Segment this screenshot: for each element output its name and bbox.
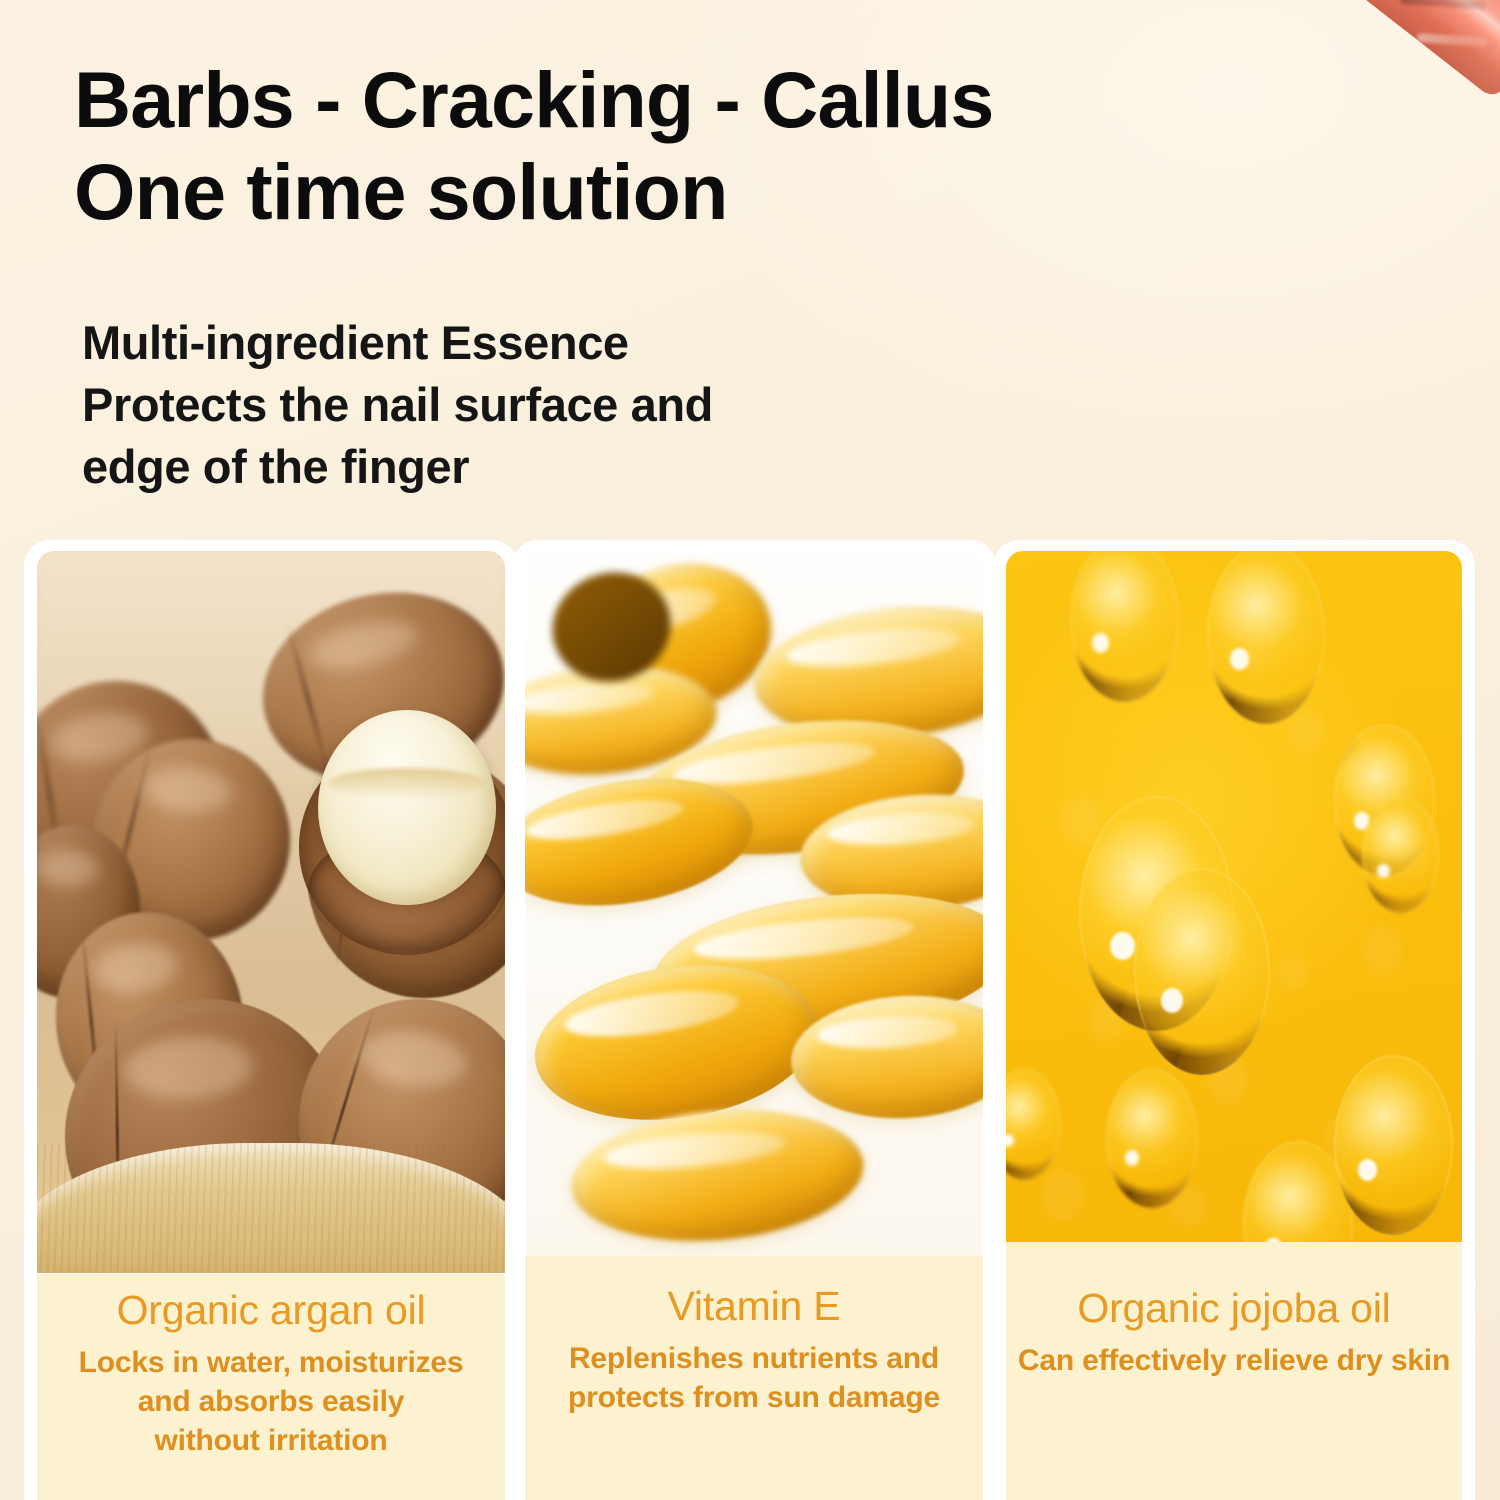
bubble-rim [1362, 796, 1440, 914]
bubble-specular [1230, 648, 1249, 670]
card-body-line-2: and absorbs easily [45, 1382, 497, 1421]
bubble-rim [1134, 868, 1271, 1075]
capsule-highlight [826, 810, 975, 850]
capsule-highlight [692, 909, 916, 967]
capsule-highlight [816, 1013, 959, 1052]
kernel-notch [328, 768, 484, 799]
subhead-line-1: Multi-ingredient Essence [82, 312, 872, 374]
subhead-line-3: edge of the finger [82, 436, 872, 498]
wooden-bowl [37, 1143, 505, 1273]
card-body-line-1: Can effectively relieve dry skin [1014, 1341, 1454, 1380]
capsule-highlight [525, 678, 657, 718]
card-title: Vitamin E [525, 1284, 983, 1330]
ingredient-card-argan-oil: Organic argan oil Locks in water, moistu… [24, 540, 518, 1500]
oil-bubble [1070, 551, 1179, 702]
bubble-rim [1106, 1069, 1197, 1207]
card-title: Organic argan oil [37, 1288, 505, 1334]
bubble-rim [1070, 551, 1179, 702]
nut-highlight [37, 847, 99, 890]
oil-bubble [1207, 551, 1326, 724]
card-body: Replenishes nutrients and protects from … [525, 1339, 983, 1417]
card-caption: Organic argan oil Locks in water, moistu… [37, 1274, 505, 1500]
nut-highlight [122, 1035, 254, 1102]
oil-ghost-bubble [1362, 925, 1403, 975]
vitamin-e-capsule [566, 1099, 869, 1253]
oil-ghost-bubble [1042, 1170, 1083, 1220]
bubble-specular [1110, 932, 1135, 960]
macadamia-nuts-photo [37, 551, 505, 1273]
bubble-rim [1006, 1069, 1061, 1180]
card-body-line-2: protects from sun damage [533, 1378, 975, 1417]
headline-line-1: Barbs - Cracking - Callus [74, 55, 993, 144]
bubble-specular [1377, 864, 1389, 878]
card-body-line-1: Locks in water, moisturizes [45, 1343, 497, 1382]
nut-highlight [356, 1025, 470, 1093]
pen-barrel [1172, 0, 1500, 101]
card-title: Organic jojoba oil [1006, 1286, 1462, 1332]
capsule-highlight [784, 622, 963, 674]
bubble-specular [1358, 1159, 1377, 1181]
oil-bubble [1362, 796, 1440, 914]
capsule-highlight [562, 983, 742, 1046]
pen-label-text [1287, 0, 1500, 105]
subhead-line-2: Protects the nail surface and [82, 374, 872, 436]
vitamin-e-capsules-photo [525, 551, 983, 1269]
card-body: Locks in water, moisturizes and absorbs … [37, 1343, 505, 1460]
nut-highlight [89, 939, 180, 995]
card-body: Can effectively relieve dry skin [1006, 1341, 1462, 1380]
bubble-specular [1161, 988, 1183, 1013]
card-body-line-3: without irritation [45, 1421, 497, 1460]
page-subtitle: Multi-ingredient Essence Protects the na… [82, 312, 872, 498]
capsule-highlight [525, 791, 685, 847]
card-caption: Organic jojoba oil Can effectively relie… [1006, 1242, 1462, 1500]
bubble-rim [1334, 1055, 1453, 1235]
bubble-specular [1125, 1150, 1140, 1167]
ingredient-card-jojoba-oil: Organic jojoba oil Can effectively relie… [993, 540, 1475, 1500]
oil-bubble [1334, 1055, 1453, 1235]
oil-bubble [1134, 868, 1271, 1075]
oil-ghost-bubble [1289, 709, 1325, 752]
oil-bubble [1006, 1069, 1061, 1180]
capsule-highlight [603, 1126, 787, 1175]
bubble-rim [1207, 551, 1326, 724]
headline-line-2: One time solution [74, 146, 1144, 238]
ingredient-card-vitamin-e: Vitamin E Replenishes nutrients and prot… [512, 540, 996, 1500]
card-caption: Vitamin E Replenishes nutrients and prot… [525, 1256, 983, 1500]
nut-highlight [140, 762, 235, 816]
macadamia-kernel [318, 710, 496, 905]
nut-highlight [303, 613, 421, 677]
ingredient-cards: Organic argan oil Locks in water, moistu… [0, 540, 1500, 1500]
bubble-specular [1092, 633, 1110, 653]
oil-bubble [1106, 1069, 1197, 1207]
oil-ghost-bubble [1280, 954, 1307, 990]
product-infographic: Barbs - Cracking - Callus One time solut… [0, 0, 1500, 1500]
card-body-line-1: Replenishes nutrients and [533, 1339, 975, 1378]
jojoba-oil-photo [1006, 551, 1462, 1271]
page-title: Barbs - Cracking - Callus One time solut… [74, 54, 1144, 237]
